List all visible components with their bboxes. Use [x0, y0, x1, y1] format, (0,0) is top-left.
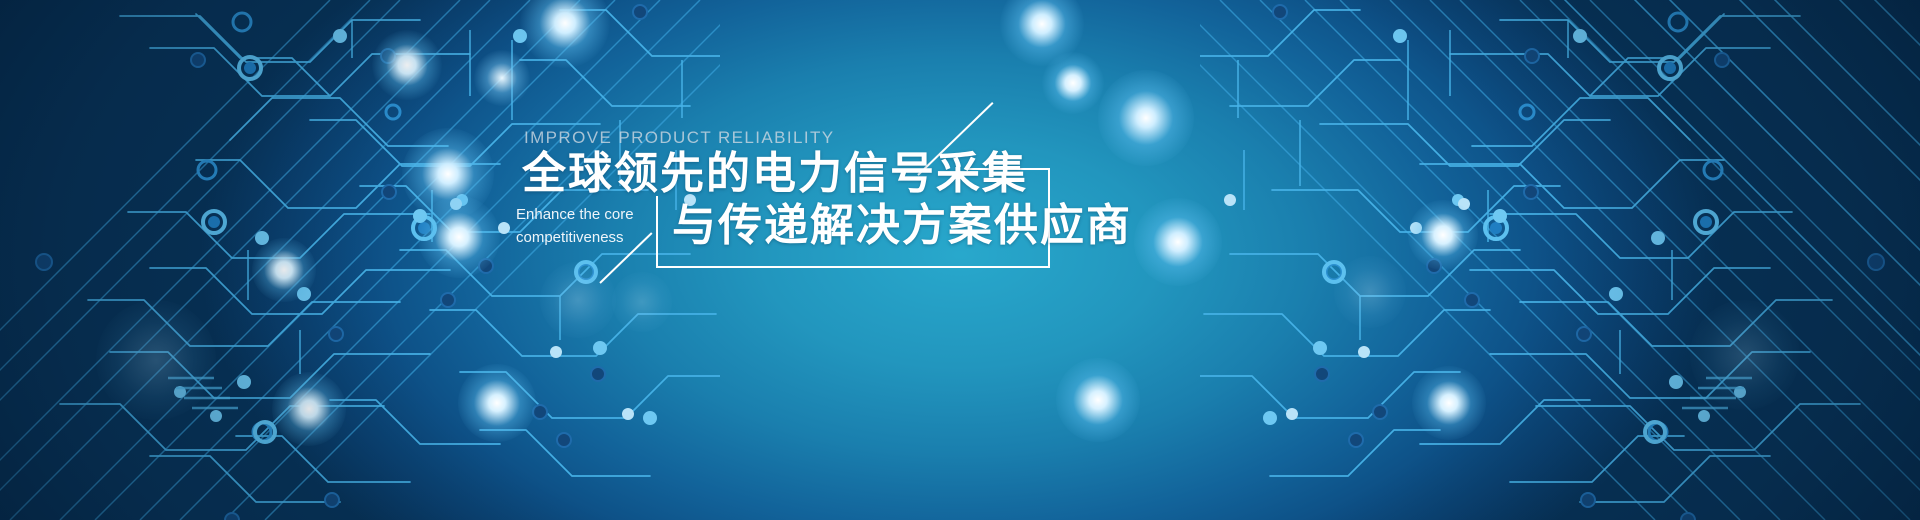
banner-headline-line-1: 全球领先的电力信号采集	[522, 148, 1028, 200]
banner-tagline: Enhance the core competitiveness	[516, 203, 666, 249]
banner-text-block: IMPROVE PRODUCT RELIABILITY 全球领先的电力信号采集 …	[0, 0, 1920, 520]
hero-banner: IMPROVE PRODUCT RELIABILITY 全球领先的电力信号采集 …	[0, 0, 1920, 520]
frame-bottom-line	[656, 266, 1050, 268]
banner-headline-line-2: 与传递解决方案供应商	[672, 200, 1132, 252]
banner-eyebrow: IMPROVE PRODUCT RELIABILITY	[524, 128, 835, 148]
